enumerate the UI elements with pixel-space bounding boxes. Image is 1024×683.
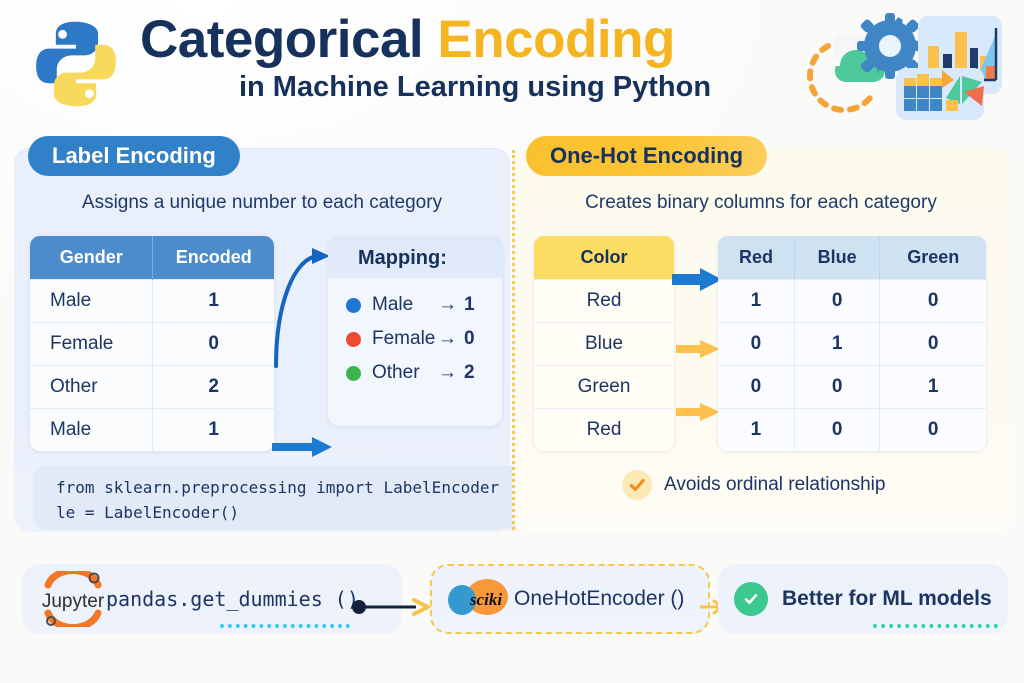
- sklearn-class-label: OneHotEncoder (): [514, 587, 684, 611]
- cell-color: Red: [534, 280, 674, 323]
- table-row: Other 2: [30, 366, 274, 409]
- jupyter-logo-icon: Jupyter: [40, 571, 106, 627]
- cell-blue: 1: [794, 323, 879, 366]
- cell-blue: 0: [794, 280, 879, 323]
- page-subtitle: in Machine Learning using Python: [140, 71, 780, 104]
- cell-red: 1: [718, 280, 794, 323]
- cell-green: 0: [880, 280, 986, 323]
- table-row: Blue: [534, 323, 674, 366]
- pandas-step: Jupyter pandas.get_dummies (): [22, 564, 402, 634]
- cell-gender: Female: [30, 323, 153, 366]
- table-header-row: Gender Encoded: [30, 236, 274, 280]
- list-item: Other → 2: [328, 356, 502, 390]
- mapping-value: 1: [464, 294, 475, 316]
- label-encoding-table: Gender Encoded Male 1 Female 0 Other: [30, 236, 274, 451]
- table-row: Male 1: [30, 409, 274, 452]
- cell-green: 1: [880, 366, 986, 409]
- cell-green: 0: [880, 323, 986, 366]
- table-row: Green: [534, 366, 674, 409]
- label-encoding-description: Assigns a unique number to each category: [14, 192, 510, 214]
- code-line-1: from sklearn.preprocessing import LabelE…: [56, 476, 532, 501]
- check-circle-green-icon: [734, 582, 768, 616]
- bullet-dot-icon: [346, 332, 361, 347]
- mapping-name: Male: [372, 294, 438, 316]
- table-row: 0 0 1: [718, 366, 986, 409]
- svg-text:sciki: sciki: [469, 590, 502, 609]
- underline-decoration: [873, 624, 998, 628]
- conclusion-step: Better for ML models: [718, 564, 1008, 634]
- mapping-title: Mapping:: [358, 247, 447, 270]
- header: Categorical Encoding in Machine Learning…: [0, 0, 1024, 132]
- mapping-name: Other: [372, 362, 438, 384]
- cell-encoded: 1: [153, 280, 274, 323]
- mapping-list: Male → 1 Female → 0 Other → 2: [328, 278, 502, 402]
- table-row: Female 0: [30, 323, 274, 366]
- mapping-arrow-icon: →: [438, 328, 457, 350]
- underline-decoration: [220, 624, 350, 628]
- cell-encoded: 2: [153, 366, 274, 409]
- binary-table: Red Blue Green 1 0 0 0 1 0: [718, 236, 986, 451]
- table-row: Red: [534, 280, 674, 323]
- table-row: 0 1 0: [718, 323, 986, 366]
- bullet-dot-icon: [346, 366, 361, 381]
- column-header-red: Red: [718, 236, 794, 280]
- connector-arrow-icon: [352, 598, 434, 616]
- check-circle-icon: [622, 470, 652, 500]
- label-encoding-badge: Label Encoding: [28, 136, 240, 176]
- one-hot-encoding-description: Creates binary columns for each category: [512, 192, 1010, 214]
- table-header-row: Color: [534, 236, 674, 280]
- column-header-gender: Gender: [30, 236, 153, 280]
- column-header-encoded: Encoded: [153, 236, 274, 280]
- cell-red: 1: [718, 409, 794, 452]
- page-title: Categorical Encoding in Machine Learning…: [140, 10, 780, 104]
- mapping-arrow-icon: →: [438, 362, 457, 384]
- mapping-value: 0: [464, 328, 475, 350]
- column-header-green: Green: [880, 236, 986, 280]
- cell-gender: Other: [30, 366, 153, 409]
- cell-red: 0: [718, 366, 794, 409]
- conclusion-label: Better for ML models: [782, 587, 992, 611]
- list-item: Male → 1: [328, 288, 502, 322]
- title-part-1: Categorical: [140, 10, 437, 69]
- straight-arrow-icon: [272, 436, 334, 458]
- code-line-2: le = LabelEncoder(): [56, 501, 532, 526]
- list-item: Female → 0: [328, 322, 502, 356]
- cell-blue: 0: [794, 409, 879, 452]
- cell-encoded: 0: [153, 323, 274, 366]
- svg-text:Jupyter: Jupyter: [42, 591, 105, 612]
- mapping-arrow-icon: →: [438, 294, 457, 316]
- column-header-blue: Blue: [794, 236, 879, 280]
- table-row: 1 0 0: [718, 409, 986, 452]
- panel-divider: [512, 150, 515, 530]
- mapping-name: Female: [372, 328, 438, 350]
- cell-color: Blue: [534, 323, 674, 366]
- cell-gender: Male: [30, 409, 153, 452]
- mapping-box: Mapping: Male → 1 Female → 0 Other: [328, 236, 502, 426]
- one-hot-encoding-panel: One-Hot Encoding Creates binary columns …: [512, 148, 1010, 532]
- bottom-bar: Jupyter pandas.get_dummies () sciki OneH: [0, 552, 1024, 656]
- table-header-row: Red Blue Green: [718, 236, 986, 280]
- transform-arrows-icon: [672, 268, 724, 438]
- infographic-page: Categorical Encoding in Machine Learning…: [0, 0, 1024, 683]
- column-header-color: Color: [534, 236, 674, 280]
- avoids-ordinal-note: Avoids ordinal relationship: [622, 470, 885, 500]
- cell-encoded: 1: [153, 409, 274, 452]
- title-part-2: Encoding: [437, 10, 674, 69]
- sklearn-step: sciki OneHotEncoder (): [430, 564, 710, 634]
- bullet-dot-icon: [346, 298, 361, 313]
- cell-color: Green: [534, 366, 674, 409]
- label-encoding-panel: Label Encoding Assigns a unique number t…: [14, 148, 510, 532]
- code-snippet: from sklearn.preprocessing import LabelE…: [34, 466, 554, 528]
- table-row: Male 1: [30, 280, 274, 323]
- cell-blue: 0: [794, 366, 879, 409]
- pandas-method-label: pandas.get_dummies (): [106, 587, 359, 611]
- note-label: Avoids ordinal relationship: [664, 474, 885, 496]
- scikit-learn-logo-icon: sciki: [442, 577, 508, 621]
- cell-green: 0: [880, 409, 986, 452]
- cell-gender: Male: [30, 280, 153, 323]
- one-hot-encoding-badge: One-Hot Encoding: [526, 136, 767, 176]
- mapping-value: 2: [464, 362, 475, 384]
- analytics-illustration-icon: [790, 8, 1010, 128]
- python-logo-icon: [28, 16, 124, 112]
- table-row: Red: [534, 409, 674, 452]
- cell-color: Red: [534, 409, 674, 452]
- cell-red: 0: [718, 323, 794, 366]
- color-table: Color Red Blue Green Red: [534, 236, 674, 451]
- table-row: 1 0 0: [718, 280, 986, 323]
